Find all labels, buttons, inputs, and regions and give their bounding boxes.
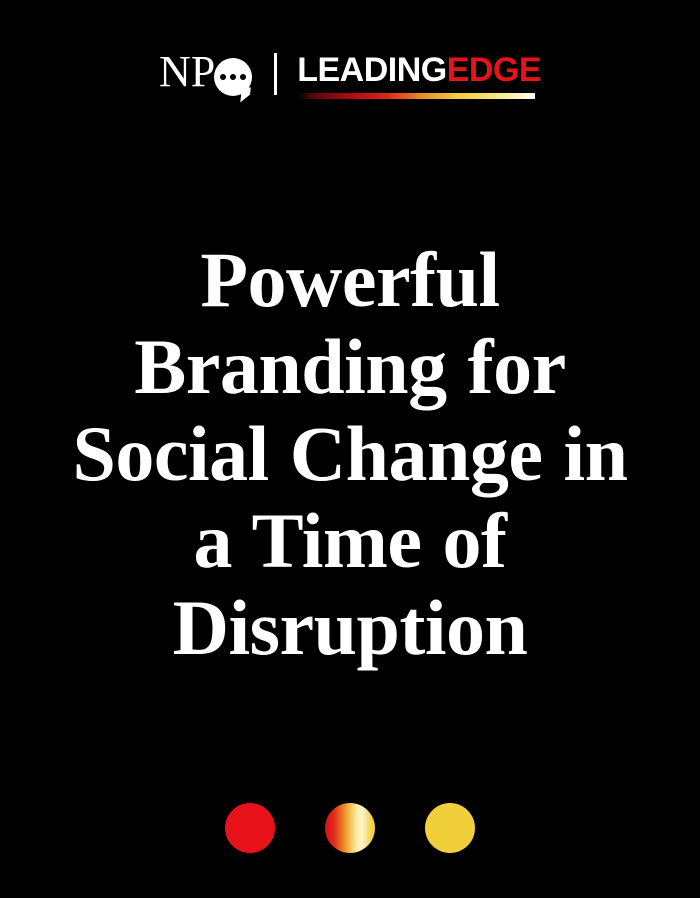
leading-edge-wordmark: LEADINGEDGE [297, 52, 541, 88]
brand-logo[interactable]: NP LEADINGEDGE [159, 46, 541, 102]
logo-divider [274, 53, 277, 95]
speech-bubble-dots [214, 58, 252, 96]
dot-yellow [425, 803, 475, 853]
speech-bubble-icon [214, 58, 252, 96]
bubble-dot-1 [220, 74, 226, 80]
headline-line-2: Branding for [50, 323, 650, 410]
headline-line-3: Social Change in [50, 410, 650, 497]
headline-line-5: Disruption [50, 584, 650, 671]
wordmark-edge: EDGE [447, 51, 541, 89]
bubble-dot-3 [240, 74, 246, 80]
brand-logo-bar: NP LEADINGEDGE [0, 44, 700, 104]
headline-line-1: Powerful [50, 236, 650, 323]
poster-canvas: NP LEADINGEDGE [0, 0, 700, 898]
page-title: Powerful Branding for Social Change in a… [50, 236, 650, 671]
decorative-dot-row [0, 803, 700, 853]
leading-edge-gradient-rule [297, 93, 535, 99]
headline-line-4: a Time of [50, 497, 650, 584]
npq-logomark[interactable]: NP [159, 46, 252, 102]
wordmark-leading: LEADING [297, 51, 447, 89]
dot-red [225, 803, 275, 853]
npq-letters: NP [159, 50, 215, 94]
dot-gradient [325, 803, 375, 853]
leading-edge-lockup[interactable]: LEADINGEDGE [297, 52, 541, 99]
bubble-dot-2 [230, 74, 236, 80]
